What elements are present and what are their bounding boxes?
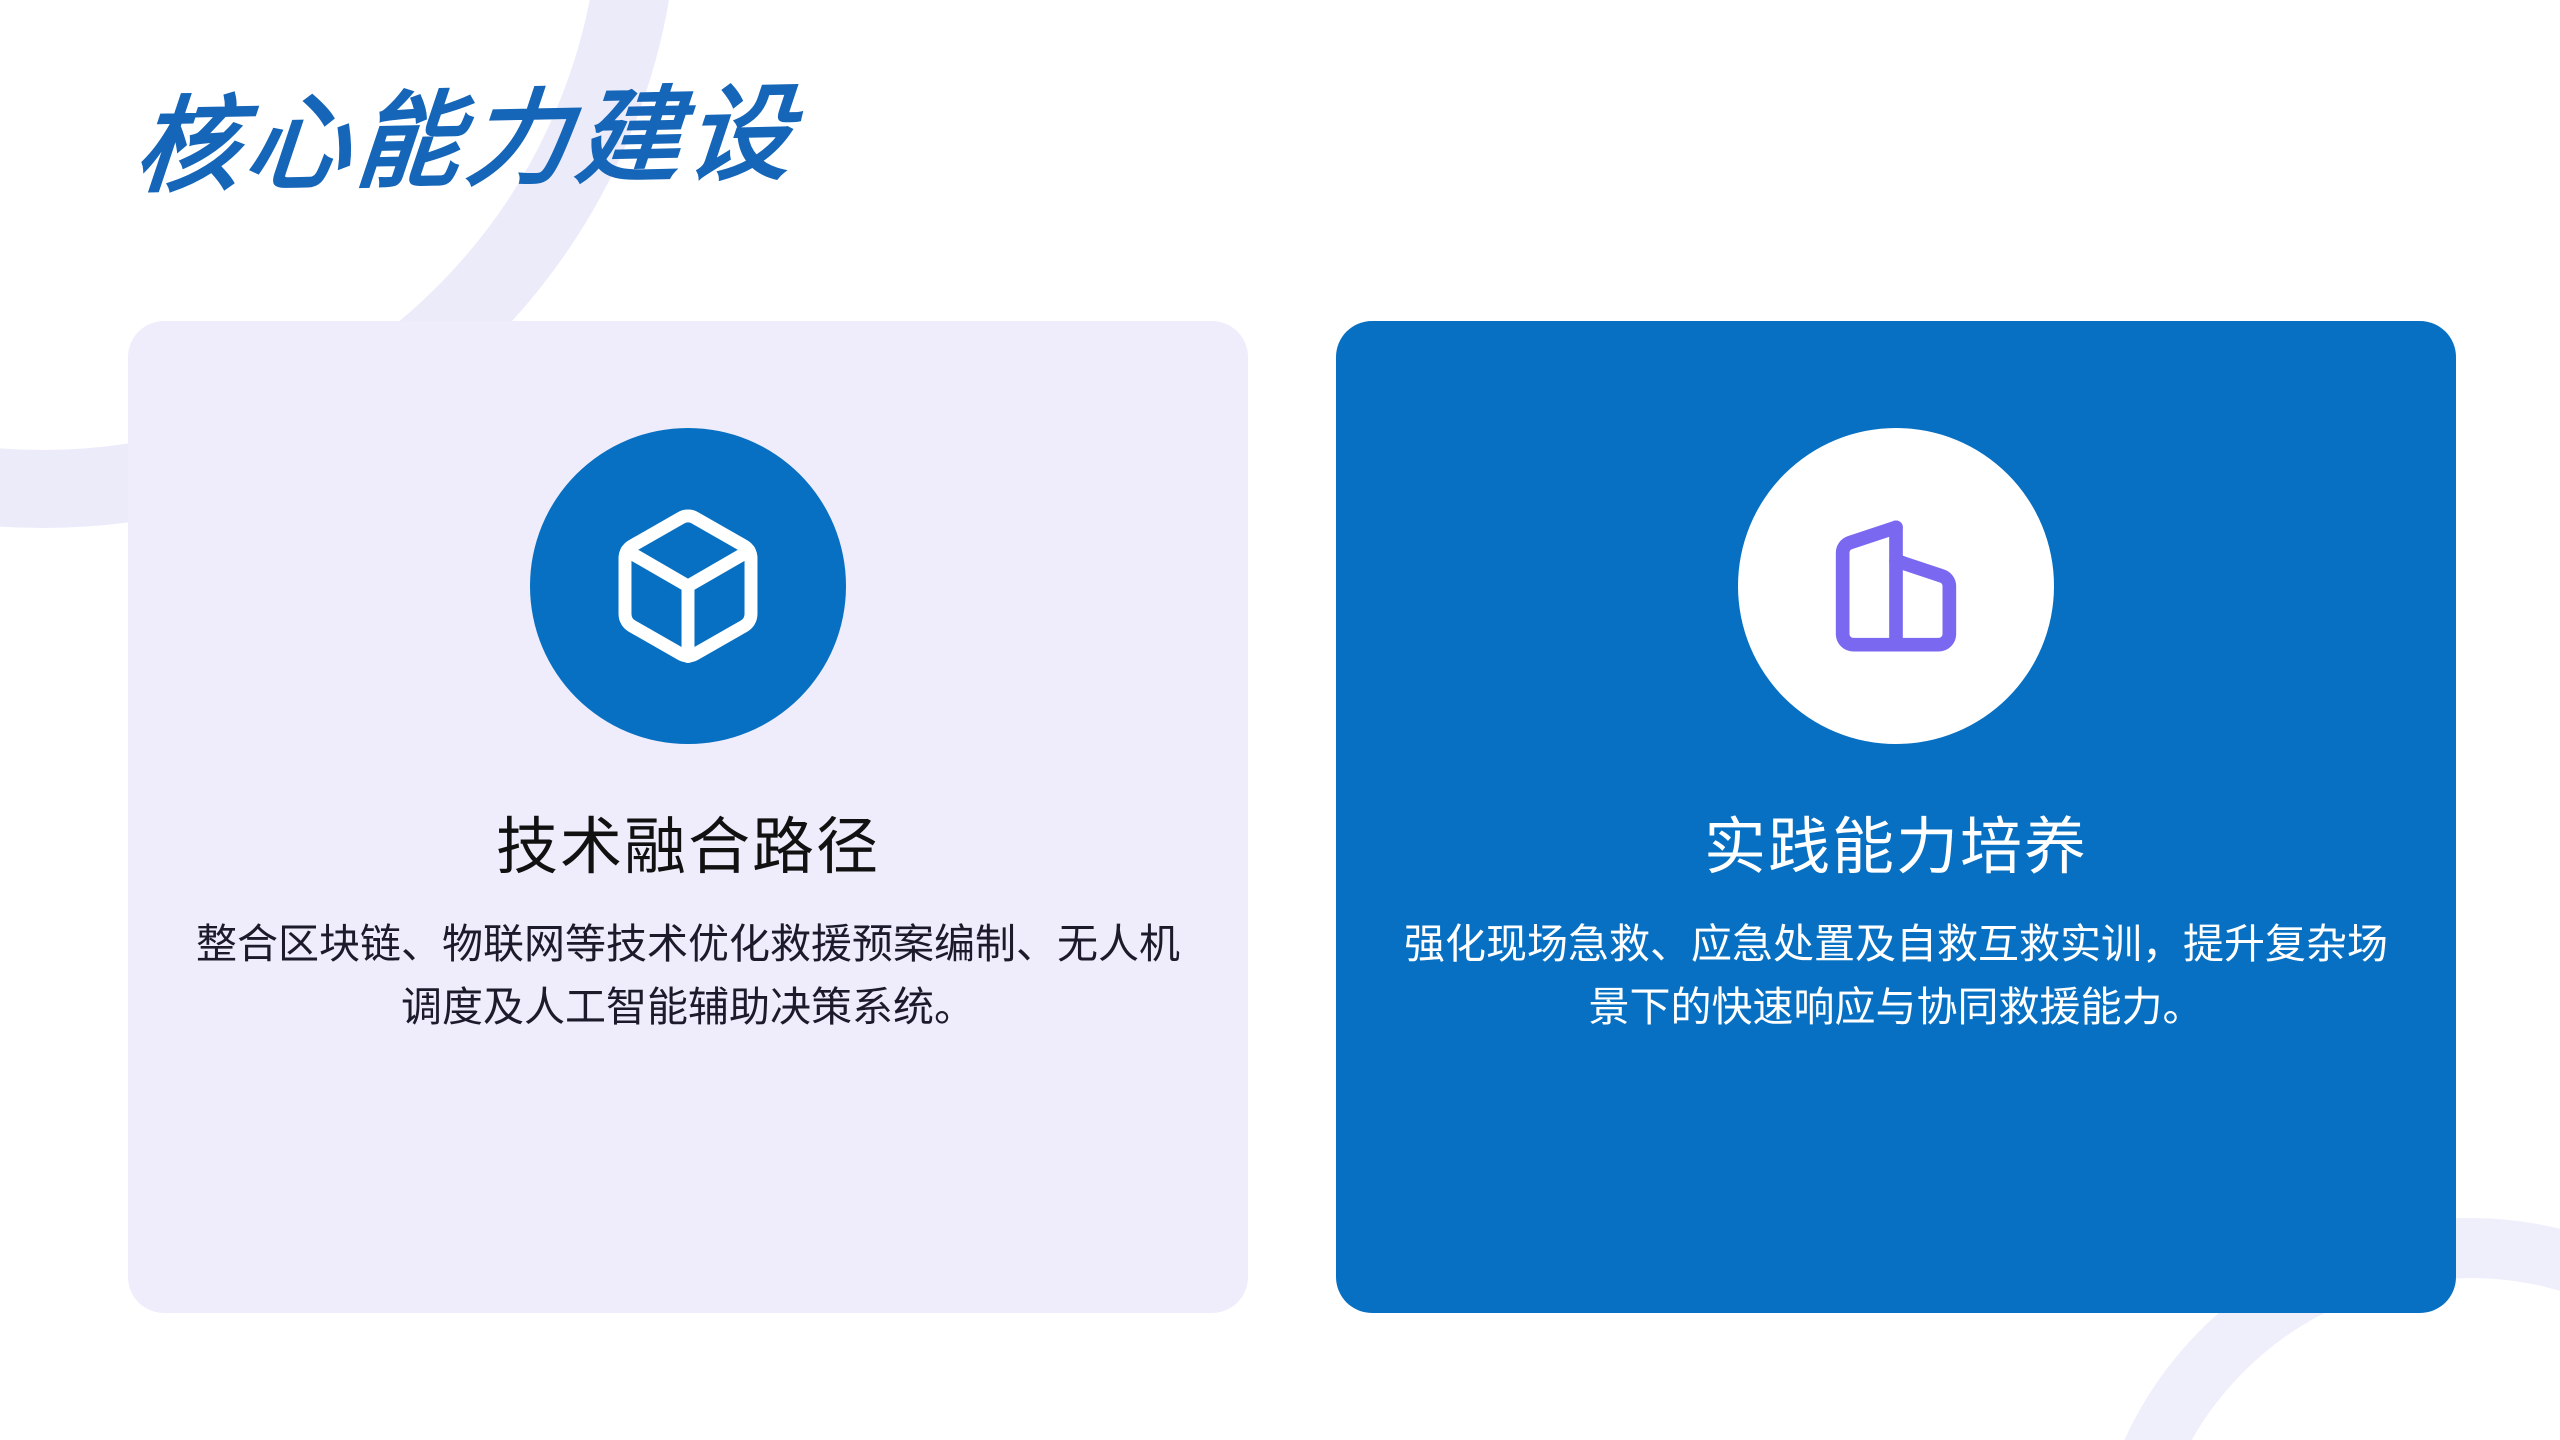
card-icon-wrapper-right xyxy=(1738,428,2054,744)
card-group: 技术融合路径 整合区块链、物联网等技术优化救援预案编制、无人机调度及人工智能辅助… xyxy=(128,321,2456,1313)
building-blocks-icon xyxy=(1816,506,1976,666)
card-body-left: 整合区块链、物联网等技术优化救援预案编制、无人机调度及人工智能辅助决策系统。 xyxy=(190,913,1186,1038)
card-tech-integration-path[interactable]: 技术融合路径 整合区块链、物联网等技术优化救援预案编制、无人机调度及人工智能辅助… xyxy=(128,321,1248,1313)
card-icon-wrapper-left xyxy=(530,428,846,744)
card-body-right: 强化现场急救、应急处置及自救互救实训，提升复杂场景下的快速响应与协同救援能力。 xyxy=(1398,913,2394,1038)
page-title: 核心能力建设 xyxy=(131,78,802,201)
card-practical-ability-training[interactable]: 实践能力培养 强化现场急救、应急处置及自救互救实训，提升复杂场景下的快速响应与协… xyxy=(1336,321,2456,1313)
card-heading-left: 技术融合路径 xyxy=(496,812,880,883)
cube-box-icon xyxy=(604,502,772,670)
slide-canvas: 核心能力建设 技术融合路径 整合区块链、物联网等技术优化救援预案编制、无人机调度… xyxy=(0,0,2560,1440)
card-heading-right: 实践能力培养 xyxy=(1704,812,2088,883)
